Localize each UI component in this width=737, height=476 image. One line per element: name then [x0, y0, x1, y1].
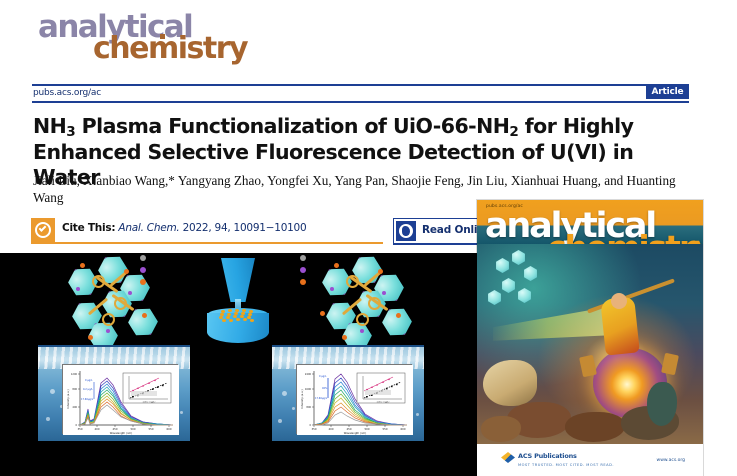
svg-text:0.2 µg/L: 0.2 µg/L — [83, 388, 93, 391]
svg-text:c(UO₂²⁺) (µg/L): c(UO₂²⁺) (µg/L) — [143, 400, 156, 403]
svg-text:Wavelength (nm): Wavelength (nm) — [344, 431, 366, 435]
cover-sea-creature — [483, 360, 537, 406]
journal-cover-image: pubs.acs.org/ac analytical chemistry JUL… — [477, 200, 703, 476]
svg-text:500: 500 — [365, 427, 370, 431]
atom-legend-left — [140, 255, 150, 295]
svg-text:Intensity (a.u.): Intensity (a.u.) — [66, 389, 70, 408]
svg-text:350: 350 — [78, 427, 83, 431]
svg-text:800: 800 — [306, 406, 311, 409]
cover-light-beam — [493, 306, 613, 362]
svg-text:350: 350 — [312, 427, 317, 431]
running-head-url[interactable]: pubs.acs.org/ac — [33, 88, 101, 98]
check-circle-icon — [31, 218, 55, 242]
acs-publications-tagline: MOST TRUSTED. MOST CITED. MOST READ. — [518, 463, 614, 467]
svg-text:450: 450 — [347, 427, 352, 431]
mof-structure-right — [312, 257, 432, 357]
svg-text:0 µg/L: 0 µg/L — [85, 379, 93, 382]
cover-figure-head — [611, 293, 627, 309]
svg-text:450: 450 — [113, 427, 118, 431]
svg-text:400: 400 — [329, 427, 334, 431]
spectra-panel-left: 350400450 500550600 Wavelength (nm) 0400… — [38, 345, 190, 441]
title-seg-1: NH — [33, 114, 66, 138]
svg-text:17.66µg/L: 17.66µg/L — [81, 398, 94, 401]
mof-structure-left — [58, 257, 178, 357]
cover-artwork — [477, 244, 703, 444]
graphical-abstract: 350400450 500550600 Wavelength (nm) 0400… — [0, 253, 478, 476]
acs-publications-label: ACS Publications — [518, 452, 577, 460]
atom-legend-right — [300, 255, 310, 295]
svg-text:Wavelength (nm): Wavelength (nm) — [110, 431, 132, 435]
cite-citation-rest: 2022, 94, 10091−10100 — [183, 222, 307, 234]
fluorescence-plot-left: 350400450 500550600 Wavelength (nm) 0400… — [62, 364, 178, 434]
reactor-sample-grid — [219, 309, 259, 322]
spectra-panel-right: 350400450 500550600 Wavelength (nm) 0800… — [272, 345, 424, 441]
svg-text:550: 550 — [383, 427, 388, 431]
title-seg-2: Plasma Functionalization of UiO-66-NH — [75, 114, 509, 138]
title-sub-2: 2 — [509, 124, 518, 140]
acs-publications-logo-icon — [501, 452, 515, 463]
plasma-reactor-icon — [205, 258, 275, 338]
fluorescence-plot-right: 350400450 500550600 Wavelength (nm) 0800… — [296, 364, 412, 434]
journal-masthead: analytical chemistry — [38, 12, 298, 70]
cite-underline — [31, 242, 383, 244]
cite-this-label: Cite This: — [62, 222, 115, 234]
svg-text:400: 400 — [72, 406, 77, 409]
svg-text:400: 400 — [95, 427, 100, 431]
fluorescence-plot-right-svg: 350400450 500550600 Wavelength (nm) 0800… — [297, 365, 413, 435]
cite-this-bar[interactable]: Cite This: Anal. Chem. 2022, 94, 10091−1… — [31, 218, 383, 244]
svg-text:500: 500 — [131, 427, 136, 431]
cite-this-text: Cite This: Anal. Chem. 2022, 94, 10091−1… — [62, 222, 306, 234]
svg-text:0 µg/L: 0 µg/L — [319, 375, 327, 378]
svg-text:c(UO₂²⁺) (µg/L): c(UO₂²⁺) (µg/L) — [377, 400, 390, 403]
svg-text:550: 550 — [149, 427, 154, 431]
article-type-badge: Article — [646, 85, 689, 99]
svg-text:92%: 92% — [322, 387, 328, 390]
svg-text:Intensity (a.u.): Intensity (a.u.) — [300, 389, 304, 408]
cite-journal-abbrev: Anal. Chem. — [118, 222, 179, 234]
cover-bottom-band: ACS Publications MOST TRUSTED. MOST CITE… — [477, 444, 703, 476]
svg-text:2400: 2400 — [305, 373, 312, 376]
svg-text:600: 600 — [401, 427, 406, 431]
svg-text:1200: 1200 — [71, 373, 78, 376]
journal-logo-chemistry: chemistry — [93, 34, 247, 64]
svg-text:800: 800 — [72, 388, 77, 391]
acs-website-url: www.acs.org — [657, 458, 685, 463]
svg-text:600: 600 — [167, 427, 172, 431]
globe-icon — [396, 221, 416, 241]
running-head-rule-bottom — [32, 101, 689, 103]
running-head-rule-top — [32, 84, 689, 86]
fluorescence-plot-left-svg: 350400450 500550600 Wavelength (nm) 0400… — [63, 365, 179, 435]
article-first-page: analytical chemistry pubs.acs.org/ac Art… — [0, 0, 737, 476]
svg-text:17.66µg/L: 17.66µg/L — [315, 397, 328, 400]
svg-text:1600: 1600 — [305, 388, 312, 391]
title-sub-1: 3 — [66, 124, 75, 140]
